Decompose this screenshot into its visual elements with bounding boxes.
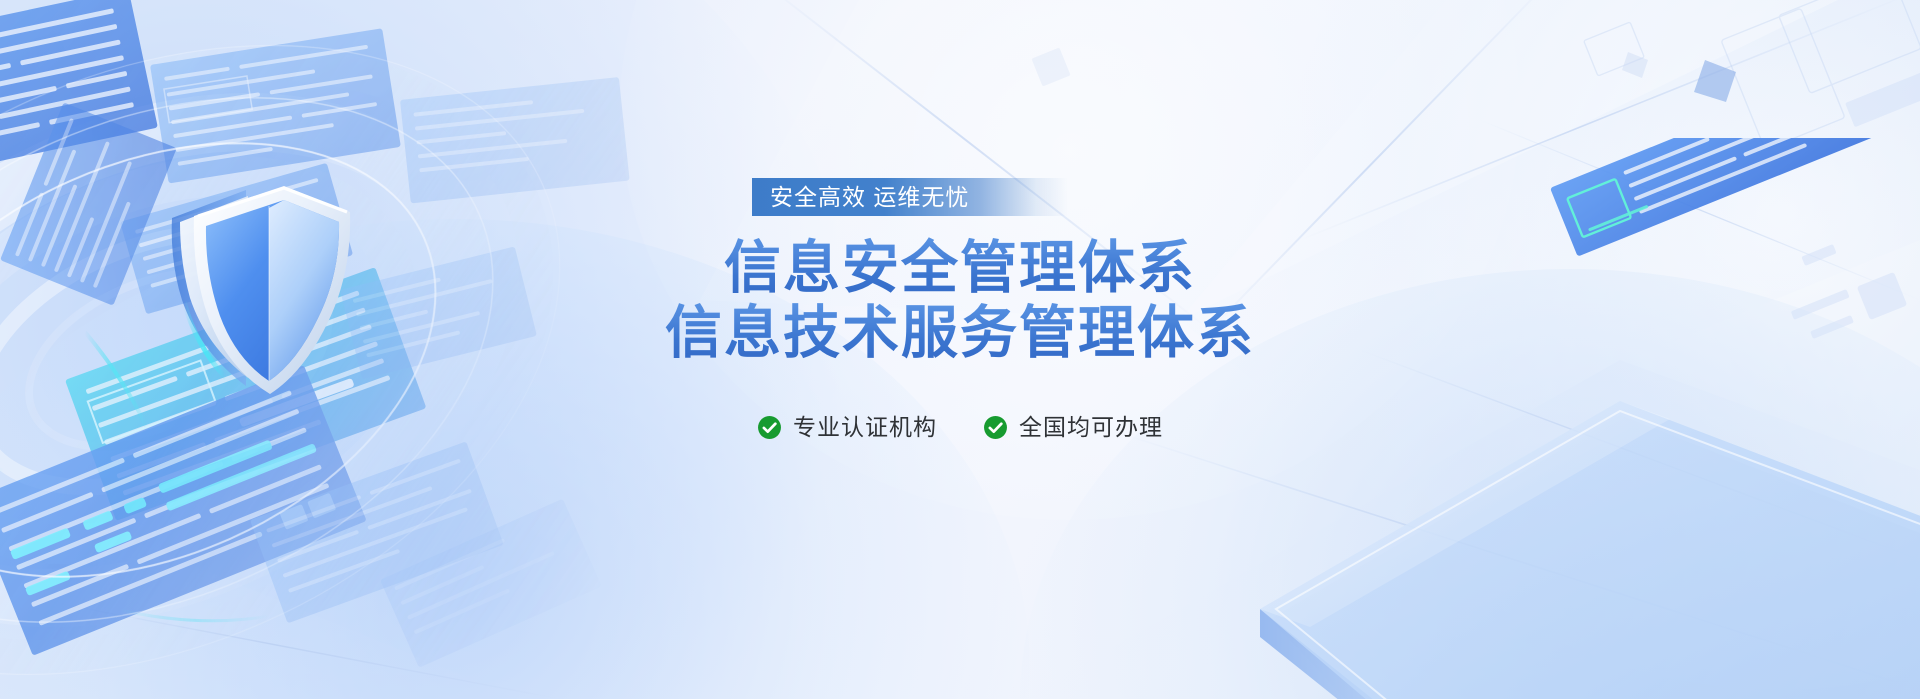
headline-line-2: 信息技术服务管理体系 xyxy=(0,301,1920,366)
tagline-text: 安全高效 运维无忧 xyxy=(770,186,969,209)
feature-label-1: 全国均可办理 xyxy=(1019,416,1163,439)
feature-label-0: 专业认证机构 xyxy=(793,416,937,439)
page-title: 信息安全管理体系 信息技术服务管理体系 xyxy=(0,236,1920,366)
banner-content: 安全高效 运维无忧 信息安全管理体系 信息技术服务管理体系 专业认证机构 全国均… xyxy=(0,0,1920,699)
feature-list: 专业认证机构 全国均可办理 xyxy=(0,415,1920,440)
headline-line-1: 信息安全管理体系 xyxy=(0,236,1920,301)
check-circle-icon xyxy=(983,415,1008,440)
check-circle-icon xyxy=(757,415,782,440)
feature-item-0: 专业认证机构 xyxy=(757,415,937,440)
hero-banner: 安全高效 运维无忧 信息安全管理体系 信息技术服务管理体系 专业认证机构 全国均… xyxy=(0,0,1920,699)
tagline-badge: 安全高效 运维无忧 xyxy=(752,178,1068,216)
feature-item-1: 全国均可办理 xyxy=(983,415,1163,440)
